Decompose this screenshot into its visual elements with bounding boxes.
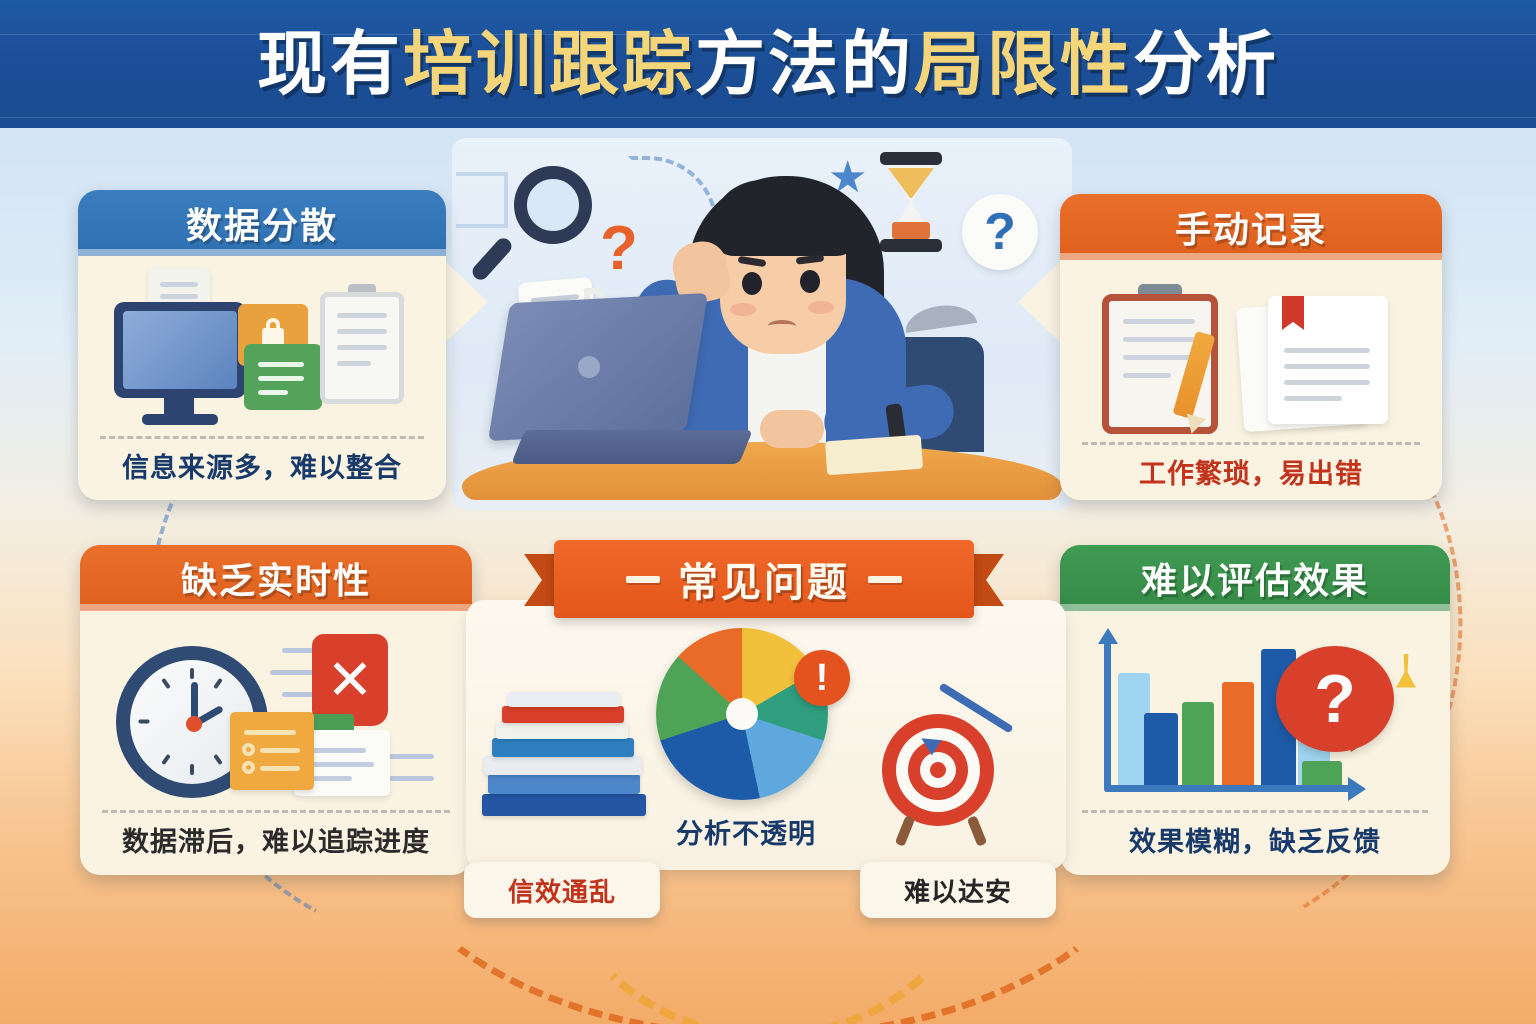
center-label-right[interactable]: 难以达安 bbox=[860, 862, 1056, 918]
bar bbox=[1144, 713, 1178, 785]
pie-center-hole bbox=[726, 698, 758, 730]
bar bbox=[1222, 682, 1254, 785]
ribbon-dash-left-icon bbox=[626, 576, 660, 583]
title-segment-1: 现有 bbox=[257, 25, 403, 103]
card-header-lack-realtime: 缺乏实时性 bbox=[80, 545, 472, 611]
question-mark-icon: ? bbox=[600, 218, 638, 280]
eye-left bbox=[742, 272, 762, 295]
arrow-notch-right bbox=[1018, 262, 1060, 342]
blush-left bbox=[730, 303, 756, 316]
target-bullseye bbox=[930, 762, 946, 778]
book bbox=[488, 774, 640, 794]
card-caption-wrap: 效果模糊，缺乏反馈 bbox=[1060, 810, 1450, 875]
note-line bbox=[304, 762, 374, 767]
ribbon-label: 常见问题 bbox=[678, 550, 850, 608]
hourglass-sand-bottom bbox=[892, 222, 930, 239]
mouth bbox=[768, 320, 796, 332]
doc-line bbox=[1284, 396, 1342, 401]
card-title: 缺乏实时性 bbox=[181, 552, 371, 604]
card-illustration-hard-to-evaluate: ? bbox=[1060, 611, 1450, 810]
chart-y-axis bbox=[1104, 642, 1111, 792]
card-data-scattered[interactable]: 数据分散 bbox=[78, 190, 446, 500]
hourglass-icon bbox=[880, 152, 942, 252]
card-caption-wrap: 工作繁琐，易出错 bbox=[1060, 442, 1442, 500]
doc-line bbox=[1284, 348, 1370, 353]
clock-hub bbox=[186, 716, 202, 732]
clipboard-line bbox=[337, 345, 387, 350]
checklist-line bbox=[260, 766, 300, 771]
hourglass-cap-bottom bbox=[880, 239, 942, 252]
laptop-keyboard bbox=[511, 430, 753, 464]
pie-chart-icon: ! bbox=[656, 628, 828, 800]
clipboard-line bbox=[337, 361, 371, 366]
card-caption: 效果模糊，缺乏反馈 bbox=[1129, 827, 1381, 857]
title-segment-4: 局限性 bbox=[914, 25, 1133, 103]
chart-x-axis bbox=[1104, 785, 1354, 792]
clock-tick bbox=[190, 764, 194, 775]
folder-line bbox=[258, 390, 288, 395]
hand-on-keyboard bbox=[760, 410, 824, 448]
pie-caption: 分析不透明 bbox=[676, 819, 816, 849]
card-header-data-scattered: 数据分散 bbox=[78, 190, 446, 256]
book bbox=[508, 692, 620, 707]
question-bubble-icon: ? bbox=[1276, 646, 1394, 752]
pie-caption-wrap: 分析不透明 bbox=[666, 812, 826, 851]
card-header-manual-record: 手动记录 bbox=[1060, 194, 1442, 260]
hair-front bbox=[710, 180, 858, 256]
axis-arrow-right bbox=[1348, 777, 1366, 801]
clipboard-line bbox=[1123, 355, 1195, 360]
folder-line bbox=[258, 376, 304, 381]
eye-right bbox=[800, 270, 820, 293]
checklist-bullet bbox=[242, 761, 255, 774]
bar bbox=[1182, 702, 1214, 785]
laptop-logo bbox=[578, 356, 600, 378]
clipboard-icon bbox=[320, 292, 404, 404]
card-lack-realtime[interactable]: 缺乏实时性 bbox=[80, 545, 472, 875]
title-segment-3: 方法的 bbox=[695, 25, 914, 103]
card-header-hard-to-evaluate: 难以评估效果 bbox=[1060, 545, 1450, 611]
center-illustration: ? ★ ? bbox=[452, 138, 1072, 510]
clipboard-line bbox=[1123, 337, 1195, 342]
clipboard-line bbox=[1123, 319, 1195, 324]
center-label-right-text: 难以达安 bbox=[904, 872, 1012, 909]
card-caption: 信息来源多，难以整合 bbox=[122, 453, 402, 483]
title-bar: 现有培训跟踪方法的局限性分析 bbox=[0, 0, 1536, 128]
pin-icon bbox=[1396, 654, 1416, 688]
doc-line bbox=[160, 282, 198, 287]
clipboard-line bbox=[1123, 373, 1171, 378]
x-mark-icon: ✕ bbox=[312, 634, 388, 726]
doc-line bbox=[1284, 380, 1370, 385]
center-label-left[interactable]: 信效通乱 bbox=[464, 862, 660, 918]
ribbon-dash-right-icon bbox=[868, 576, 902, 583]
book bbox=[492, 738, 634, 757]
title-segment-5: 分析 bbox=[1133, 25, 1279, 103]
checklist-icon bbox=[230, 712, 314, 790]
monitor-screen bbox=[123, 311, 237, 389]
monitor-icon bbox=[114, 302, 246, 398]
stacked-books-icon bbox=[478, 690, 658, 820]
monitor-foot bbox=[142, 414, 218, 425]
folder-line bbox=[258, 362, 304, 367]
checklist-line bbox=[244, 730, 296, 735]
card-caption: 工作繁琐，易出错 bbox=[1139, 459, 1363, 489]
card-manual-record[interactable]: 手动记录 bbox=[1060, 194, 1442, 500]
magnifier-icon bbox=[514, 166, 592, 244]
infographic-poster: 现有培训跟踪方法的局限性分析 ? ★ ? bbox=[0, 0, 1536, 1024]
ribbon-body: 常见问题 bbox=[554, 540, 974, 618]
card-caption: 数据滞后，难以追踪进度 bbox=[122, 827, 430, 857]
book bbox=[482, 794, 646, 816]
desk-note-paper bbox=[825, 435, 923, 476]
doc-line bbox=[1284, 364, 1370, 369]
card-illustration-manual-record bbox=[1060, 260, 1442, 442]
book bbox=[496, 722, 628, 739]
card-title: 数据分散 bbox=[186, 197, 338, 249]
target-dartboard-icon bbox=[860, 690, 1020, 830]
blush-right bbox=[808, 301, 834, 314]
card-illustration-lack-realtime: ✕ bbox=[80, 611, 472, 810]
hourglass-sand-top bbox=[888, 168, 934, 198]
page-title: 现有培训跟踪方法的局限性分析 bbox=[257, 29, 1279, 99]
book bbox=[484, 756, 642, 775]
x-glyph: ✕ bbox=[312, 634, 388, 726]
arrow-notch-left bbox=[446, 262, 488, 342]
bracket-decor-icon bbox=[456, 172, 508, 228]
clipboard-line bbox=[337, 313, 387, 318]
title-segment-2: 培训跟踪 bbox=[403, 25, 695, 103]
bar bbox=[1302, 761, 1342, 785]
clock-tick bbox=[139, 719, 150, 723]
question-bubble-icon: ? bbox=[962, 194, 1038, 270]
hourglass-cap-top bbox=[880, 152, 942, 165]
book bbox=[502, 706, 624, 723]
card-hard-to-evaluate[interactable]: 难以评估效果 ? bbox=[1060, 545, 1450, 875]
doc-line bbox=[160, 294, 198, 299]
clipboard-line bbox=[337, 329, 387, 334]
card-illustration-data-scattered bbox=[78, 256, 446, 436]
checklist-line bbox=[260, 748, 300, 753]
clock-tick bbox=[190, 668, 194, 679]
card-caption-wrap: 信息来源多，难以整合 bbox=[78, 436, 446, 500]
alert-badge-icon: ! bbox=[794, 650, 850, 706]
card-caption-wrap: 数据滞后，难以追踪进度 bbox=[80, 810, 472, 875]
common-problems-ribbon: 常见问题 bbox=[524, 540, 1004, 620]
card-title: 手动记录 bbox=[1175, 201, 1327, 253]
center-label-left-text: 信效通乱 bbox=[508, 872, 616, 909]
checklist-bullet bbox=[242, 743, 255, 756]
card-title: 难以评估效果 bbox=[1141, 552, 1369, 604]
